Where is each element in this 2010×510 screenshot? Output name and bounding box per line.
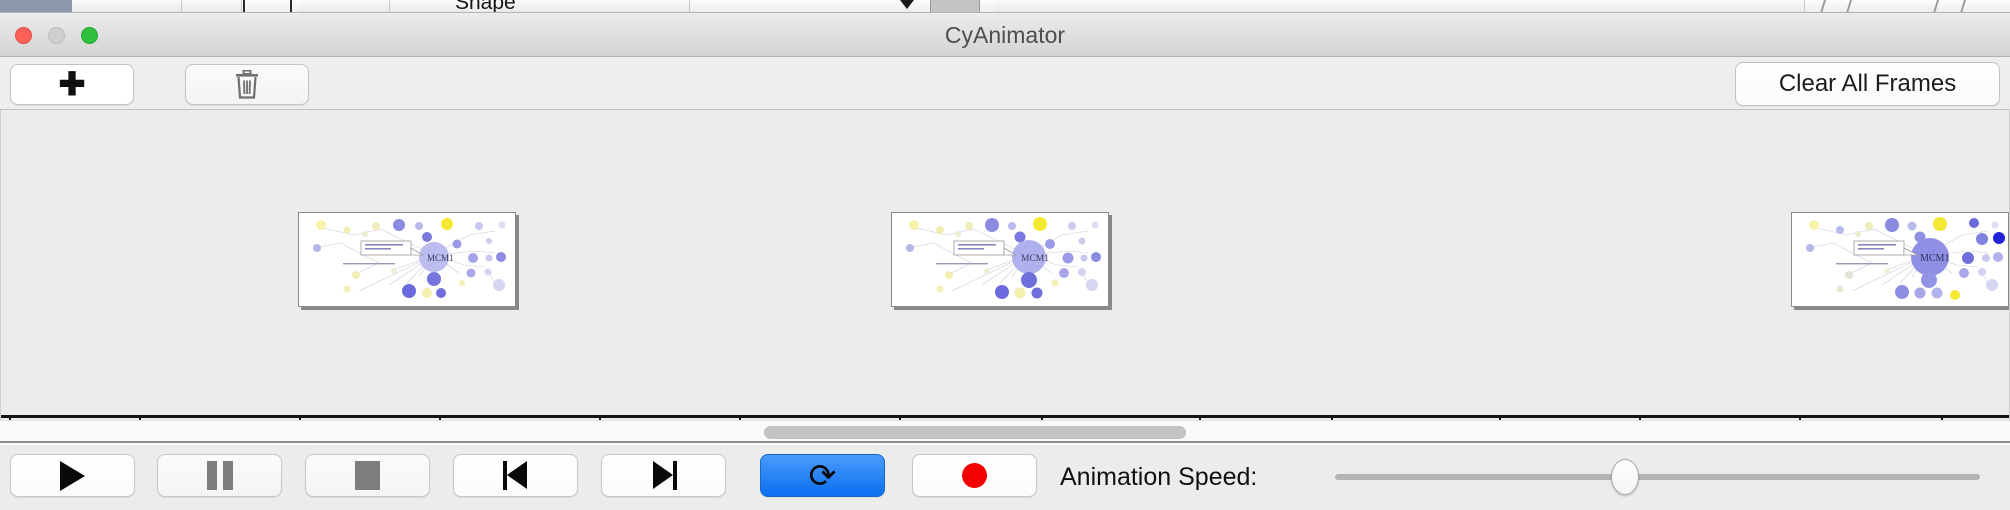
background-slash <box>1933 0 1951 13</box>
clear-all-frames-label: Clear All Frames <box>1779 70 1956 98</box>
ruler-baseline <box>1 415 2010 418</box>
frame-thumbnail-1[interactable]: MCM1 <box>298 212 516 307</box>
loop-button[interactable]: ⟳ <box>760 454 885 497</box>
frames-toolbar: ✚ Clear All Frames <box>0 57 2010 110</box>
stop-button[interactable] <box>305 454 430 497</box>
background-tick <box>290 0 292 13</box>
slider-knob[interactable] <box>1611 459 1639 495</box>
background-tick <box>243 0 245 13</box>
delete-frame-button[interactable] <box>185 64 309 105</box>
background-segment <box>182 0 242 13</box>
skip-end-icon <box>651 461 677 490</box>
skip-to-start-button[interactable] <box>453 454 578 497</box>
hub-node-label: MCM1 <box>1920 253 1949 264</box>
play-button[interactable] <box>10 454 135 497</box>
playback-toolbar: ⟳ Animation Speed: <box>0 445 2010 510</box>
scrollbar-thumb[interactable] <box>764 426 1186 439</box>
pause-icon <box>207 461 233 490</box>
play-icon <box>60 461 85 491</box>
background-segment <box>300 0 390 13</box>
background-segment <box>995 0 1805 13</box>
slider-track <box>1335 474 1980 480</box>
record-button[interactable] <box>912 454 1037 497</box>
record-icon <box>962 463 987 488</box>
animation-speed-slider[interactable] <box>1335 474 1980 480</box>
add-frame-button[interactable]: ✚ <box>10 64 134 105</box>
cyanimator-window: Shape CyAnimator ✚ <box>0 0 2010 510</box>
trash-icon <box>234 70 260 100</box>
hub-node-label: MCM1 <box>1021 254 1049 264</box>
background-segment <box>390 0 690 13</box>
timeline-scrollbar[interactable] <box>0 420 2010 443</box>
skip-start-icon <box>503 461 529 490</box>
background-arrow-icon <box>900 0 914 9</box>
title-bar: CyAnimator <box>0 13 2010 57</box>
stop-icon <box>355 461 380 490</box>
background-slash <box>1846 0 1864 13</box>
frame-thumbnail-3[interactable]: MCM1 <box>1791 212 2009 307</box>
skip-to-end-button[interactable] <box>601 454 726 497</box>
background-slash <box>1960 0 1978 13</box>
background-box <box>930 0 980 13</box>
background-window-strip: Shape <box>0 0 2010 13</box>
background-shape-label: Shape <box>455 0 516 13</box>
background-tab <box>0 0 72 13</box>
plus-icon: ✚ <box>59 72 86 98</box>
animation-speed-label: Animation Speed: <box>1060 463 1257 492</box>
loop-icon: ⟳ <box>809 459 837 492</box>
background-segment <box>72 0 182 13</box>
pause-button[interactable] <box>157 454 282 497</box>
background-slash <box>1820 0 1838 13</box>
timeline-panel[interactable]: MCM1 <box>0 110 2010 420</box>
window-title: CyAnimator <box>0 13 2010 57</box>
clear-all-frames-button[interactable]: Clear All Frames <box>1735 62 2000 106</box>
frame-thumbnail-2[interactable]: MCM1 <box>891 212 1109 307</box>
hub-node-label: MCM1 <box>427 253 454 263</box>
